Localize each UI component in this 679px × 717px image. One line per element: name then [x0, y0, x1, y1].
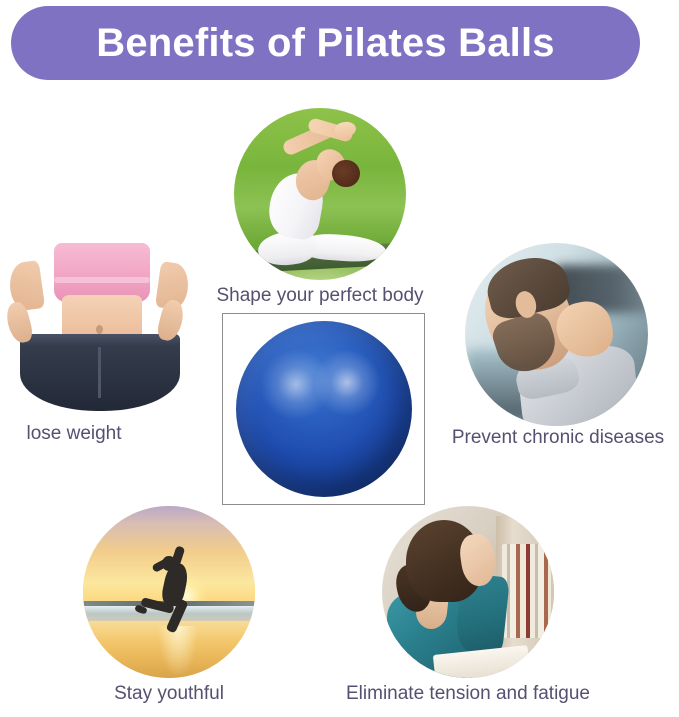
jumper-head-shape	[162, 556, 176, 571]
pilates-ball-image	[236, 321, 412, 497]
jeans-waistband-shape	[20, 334, 180, 347]
caption-shape-body: Shape your perfect body	[216, 286, 423, 307]
benefit-prevent-chronic-diseases: Prevent chronic diseases	[465, 243, 648, 426]
yoga-backbend-photo	[234, 108, 406, 280]
benefit-stay-youthful: Stay youthful	[83, 506, 255, 678]
jeans-fly-shape	[98, 347, 101, 399]
caption-eliminate-tension-fatigue: Eliminate tension and fatigue	[346, 684, 590, 705]
benefit-eliminate-tension-fatigue: Eliminate tension and fatigue	[382, 506, 554, 678]
caption-prevent-chronic-diseases: Prevent chronic diseases	[452, 428, 664, 449]
yoga-hands-shape	[334, 120, 357, 139]
sun-reflection-shape	[159, 626, 197, 674]
title-banner: Benefits of Pilates Balls	[11, 6, 640, 80]
product-image-frame	[222, 313, 425, 505]
books-row-shape	[502, 544, 550, 639]
caption-lose-weight: lose weight	[26, 424, 121, 445]
neck-pain-photo	[465, 243, 648, 426]
tired-woman-photo	[382, 506, 554, 678]
yoga-hair-bun-shape	[332, 160, 360, 188]
benefit-shape-body: Shape your perfect body	[234, 108, 406, 280]
caption-stay-youthful: Stay youthful	[114, 684, 224, 705]
navel-shape	[96, 325, 103, 334]
pink-top-shape	[54, 243, 150, 302]
benefit-lose-weight: lose weight	[2, 232, 202, 417]
oversized-jeans-photo	[2, 232, 202, 417]
beach-sunset-jump-photo	[83, 506, 255, 678]
page-title: Benefits of Pilates Balls	[96, 23, 554, 63]
